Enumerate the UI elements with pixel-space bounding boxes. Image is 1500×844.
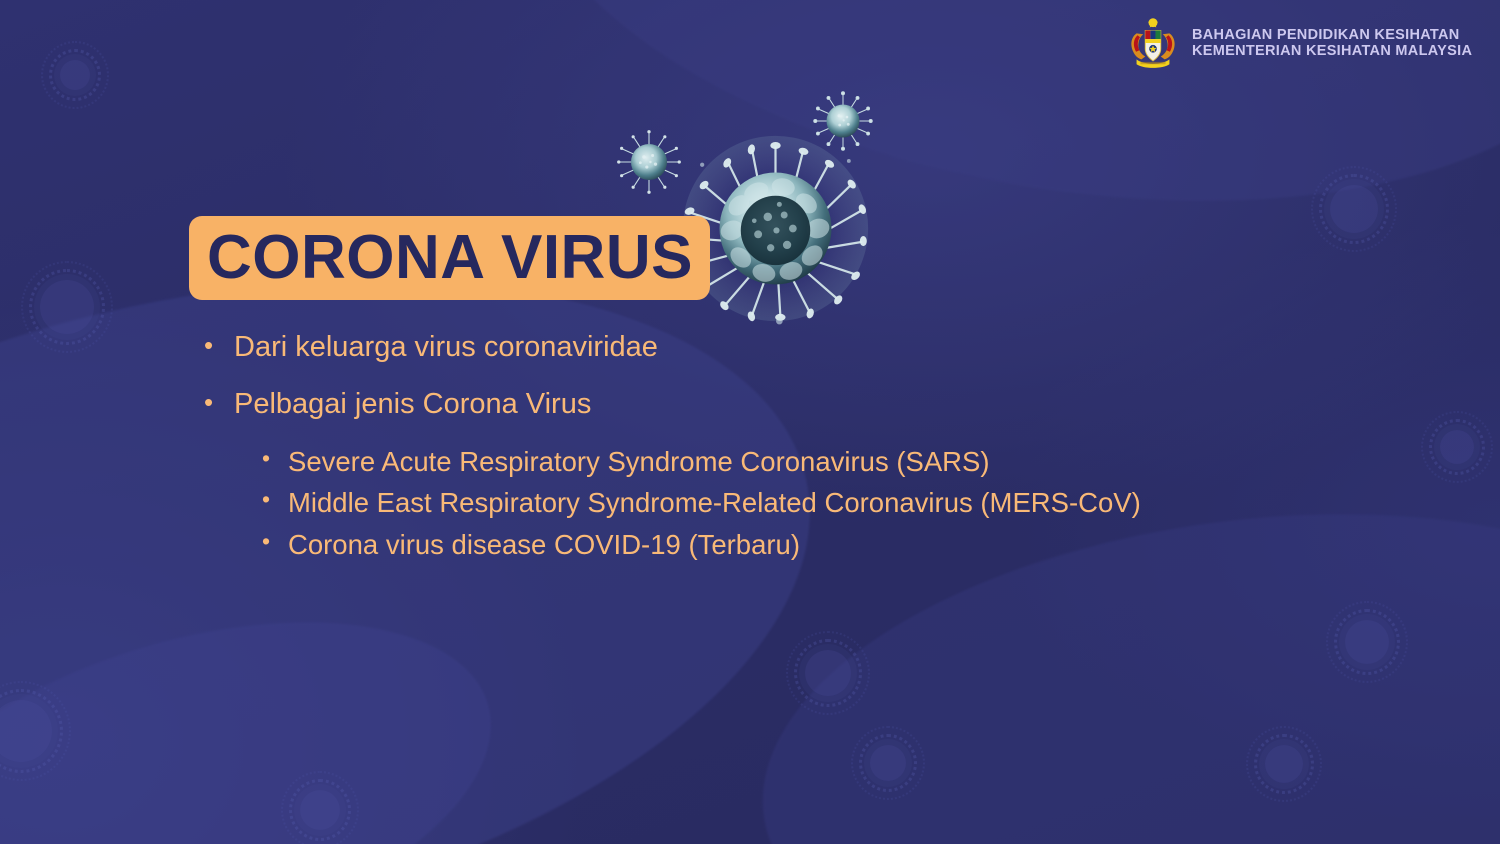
slide-canvas: BAHAGIAN PENDIDIKAN KESIHATAN KEMENTERIA… xyxy=(0,0,1500,844)
coronavirus-silhouette-icon xyxy=(1345,620,1389,664)
list-item: Corona virus disease COVID-19 (Terbaru) xyxy=(196,528,1336,563)
background-wave-4 xyxy=(0,560,529,844)
coronavirus-particle-icon xyxy=(613,126,685,198)
list-item: Middle East Respiratory Syndrome-Related… xyxy=(196,486,1278,521)
sub-list: Severe Acute Respiratory Syndrome Corona… xyxy=(196,445,1336,563)
logo-text: BAHAGIAN PENDIDIKAN KESIHATAN KEMENTERIA… xyxy=(1192,27,1472,59)
list-item: Pelbagai jenis Corona Virus xyxy=(196,387,1336,422)
list-item: Severe Acute Respiratory Syndrome Corona… xyxy=(196,445,1336,480)
organisation-logo: BAHAGIAN PENDIDIKAN KESIHATAN KEMENTERIA… xyxy=(1124,14,1472,72)
slide-title-highlight: CORONA VIRUS xyxy=(189,216,710,300)
coronavirus-silhouette-icon xyxy=(0,700,52,762)
logo-line-1: BAHAGIAN PENDIDIKAN KESIHATAN xyxy=(1192,27,1472,43)
list-item: Dari keluarga virus coronaviridae xyxy=(196,330,1336,365)
coronavirus-silhouette-icon xyxy=(1440,430,1474,464)
slide-body: Dari keluarga virus coronaviridae Pelbag… xyxy=(196,330,1336,570)
coronavirus-silhouette-icon xyxy=(805,650,851,696)
coronavirus-silhouette-icon xyxy=(1330,185,1378,233)
coronavirus-silhouette-icon xyxy=(300,790,340,830)
page-title: CORONA VIRUS xyxy=(189,227,693,289)
coronavirus-silhouette-icon xyxy=(60,60,90,90)
coronavirus-silhouette-icon xyxy=(870,745,906,781)
coronavirus-silhouette-icon xyxy=(1265,745,1303,783)
coronavirus-silhouette-icon xyxy=(40,280,94,334)
logo-line-2: KEMENTERIAN KESIHATAN MALAYSIA xyxy=(1192,43,1472,59)
coronavirus-particle-small-left xyxy=(613,126,685,198)
malaysia-coat-of-arms-icon xyxy=(1124,14,1182,72)
